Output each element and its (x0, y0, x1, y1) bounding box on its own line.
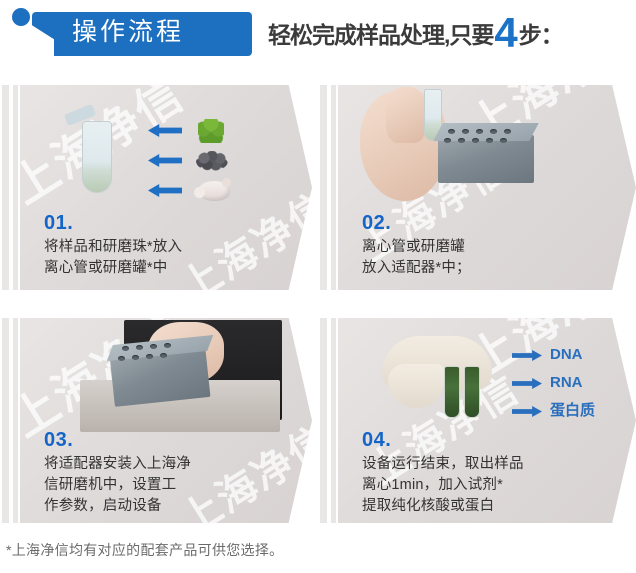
step-text-line: 将适配器安装入上海净 (44, 455, 191, 474)
step-number-02: 02. (362, 213, 391, 233)
hand-icon (386, 87, 426, 143)
output-label-rna: RNA (550, 375, 583, 390)
step-number-03: 03. (44, 430, 73, 450)
stripe-outer (2, 85, 9, 290)
arrow-right-icon (512, 350, 542, 361)
footer-note: *上海净信均有对应的配套产品可供您选择。 (6, 540, 283, 560)
adapter-hole (476, 129, 483, 134)
step-text-line: 作参数，启动设备 (44, 497, 162, 516)
step-text-line: 将样品和研磨珠*放入 (44, 238, 182, 257)
adapter-hole (504, 129, 511, 134)
step-text-line: 设备运行结束，取出样品 (362, 455, 524, 474)
step-number-04: 04. (362, 430, 391, 450)
panel-body: 上海净信 上海净信 01. 将样品和研磨珠*放入 离心管或研磨罐*中 (20, 85, 312, 290)
adapter-hole (132, 355, 139, 360)
stripe-inner (331, 318, 336, 523)
panel-illustration-02 (338, 85, 598, 215)
output-label-protein: 蛋白质 (550, 403, 595, 418)
arrow-left-icon (148, 124, 182, 137)
stripe-inner (13, 318, 18, 523)
grinding-beads-icon (196, 151, 228, 171)
adapter-hole (500, 138, 507, 143)
adapter-hole (448, 129, 455, 134)
adapter-hole (164, 343, 171, 348)
stripe-outer (2, 318, 9, 523)
panel-illustration-04: DNA RNA 蛋白质 (382, 336, 612, 432)
panel-body: 上海净信 上海净信 02. 离心管或研磨罐 放入适配器*中； (338, 85, 636, 290)
adapter-hole (136, 345, 143, 350)
sample-vial-icon (464, 366, 480, 418)
step-panel-01: 上海净信 上海净信 01. 将样品和研磨珠*放入 离心管或研磨罐*中 (0, 85, 312, 290)
stripe-outer (320, 318, 327, 523)
adapter-hole (486, 138, 493, 143)
arrow-right-icon (512, 378, 542, 389)
stripe-outer (320, 85, 327, 290)
arrow-left-icon (148, 154, 182, 167)
panel-stripes (318, 85, 338, 290)
adapter-hole (458, 138, 465, 143)
mouse-icon (198, 181, 230, 201)
step-number-01: 01. (44, 213, 73, 233)
step-text-line: 放入适配器*中； (362, 259, 471, 278)
adapter-hole (160, 353, 167, 358)
arrow-left-icon (148, 184, 182, 197)
gloved-fingers-icon (388, 364, 444, 408)
adapter-hole (444, 138, 451, 143)
panel-stripes (0, 318, 20, 523)
step-text-line: 离心管或研磨罐*中 (44, 259, 167, 278)
adapter-hole (150, 344, 157, 349)
step-text-line: 信研磨机中，设置工 (44, 476, 176, 495)
adapter-hole (122, 346, 129, 351)
headline-suffix: 步： (519, 20, 563, 50)
panel-stripes (318, 318, 338, 523)
step-panel-03: 上海净信 上海净信 03. 将适配器安装入上海净 信研磨机中，设置工 作参数，启… (0, 318, 312, 523)
output-label-dna: DNA (550, 347, 583, 362)
stripe-inner (13, 85, 18, 290)
arrow-right-icon (512, 406, 542, 417)
step-text-line: 提取纯化核酸或蛋白 (362, 497, 494, 516)
adapter-hole (472, 138, 479, 143)
panel-illustration-03 (70, 320, 285, 432)
stripe-inner (331, 85, 336, 290)
step-text-line: 离心管或研磨罐 (362, 238, 465, 257)
centrifuge-tube-icon (82, 121, 112, 193)
page-header: 操作流程 轻松完成样品处理,只要 4 步： (0, 0, 636, 72)
adapter-hole (490, 129, 497, 134)
step-text-line: 离心1min，加入试剂* (362, 476, 503, 495)
adapter-hole (462, 129, 469, 134)
headline: 轻松完成样品处理,只要 4 步： (268, 14, 563, 58)
leaf-icon (198, 119, 224, 143)
headline-prefix: 轻松完成样品处理,只要 (268, 20, 493, 50)
banner-title: 操作流程 (72, 17, 247, 47)
decorative-dot-icon (12, 8, 30, 26)
step-panel-02: 上海净信 上海净信 02. 离心管或研磨罐 放入适配器*中； (318, 85, 636, 290)
step-panel-04: 上海净信 上海净信 DNA RNA 蛋白质 04. 设备运行结束，取出样品 离心… (318, 318, 636, 523)
adapter-hole (118, 356, 125, 361)
adapter-hole (146, 354, 153, 359)
sample-vial-icon (444, 366, 460, 418)
panel-body: 上海净信 上海净信 03. 将适配器安装入上海净 信研磨机中，设置工 作参数，启… (20, 318, 312, 523)
panel-body: 上海净信 上海净信 DNA RNA 蛋白质 04. 设备运行结束，取出样品 离心… (338, 318, 636, 523)
panel-illustration-01 (20, 85, 270, 205)
headline-step-count: 4 (493, 18, 518, 48)
panel-stripes (0, 85, 20, 290)
